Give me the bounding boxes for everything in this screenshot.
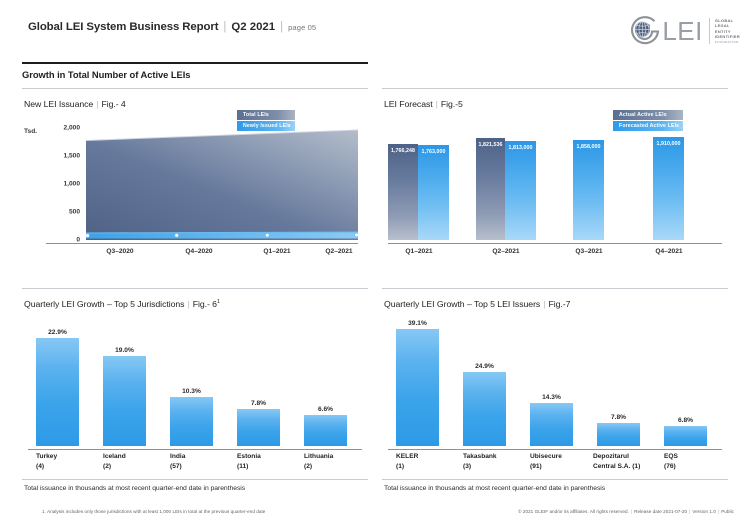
chart-title-fig6-text: Quarterly LEI Growth – Top 5 Jurisdictio…: [24, 299, 184, 309]
x-label-q2-2021: Q2–2021: [492, 248, 519, 255]
column-bar-iceland: [103, 356, 146, 446]
column-bar-turkey: [36, 338, 79, 446]
column-india: 10.3%: [170, 397, 213, 446]
x-axis-labels-fig5: Q1–2021 Q2–2021 Q3–2021 Q4–2021: [388, 248, 722, 262]
chart-fig-superscript-fig6: 1: [217, 299, 220, 305]
x-label-keler: KELER (1): [396, 452, 418, 472]
bar-value-actual-q1-2021: 1,766,248: [388, 148, 418, 154]
x-label-ubisecure: Ubisecure (91): [530, 452, 562, 472]
x-label-turkey-name: Turkey: [36, 453, 57, 460]
panel-top-rule: [22, 88, 368, 89]
x-label-keler-count: (1): [396, 462, 418, 472]
x-label-depozitarul-line-2: Central S.A. (1): [593, 462, 640, 472]
footer-separator-3: |: [718, 509, 719, 514]
report-quarter: Q2 2021: [231, 21, 275, 33]
plot-area-fig7: 39.1% 24.9% 14.3% 7.8% 6.8%: [388, 322, 722, 446]
column-bar-eqs: [664, 426, 707, 446]
chart-note-fig7: Total issuance in thousands at most rece…: [384, 485, 605, 492]
x-label-estonia-count: (11): [237, 462, 261, 472]
column-value-keler: 39.1%: [396, 320, 439, 327]
x-axis-line-fig5: [388, 243, 722, 244]
chart-note-fig6: Total issuance in thousands at most rece…: [24, 485, 245, 492]
x-axis-line-fig4: [46, 243, 358, 244]
x-label-turkey: Turkey (4): [36, 452, 57, 472]
column-turkey: 22.9%: [36, 338, 79, 446]
y-axis-unit-fig4: Tsd.: [24, 128, 37, 135]
release-date: Release date 2021-07-20: [634, 509, 687, 514]
chart-title-fig7-text: Quarterly LEI Growth – Top 5 LEI Issuers: [384, 299, 540, 309]
x-label-q1-2021: Q1–2021: [263, 248, 290, 255]
panel-lei-forecast: LEI Forecast|Fig.-5 Actual Active LEIs F…: [382, 88, 728, 268]
x-label-takasbank: Takasbank (3): [463, 452, 497, 472]
column-bar-india: [170, 397, 213, 446]
chart-fig-label-fig5: Fig.-5: [441, 99, 463, 109]
panel-top-lei-issuers: Quarterly LEI Growth – Top 5 LEI Issuers…: [382, 288, 728, 488]
column-bar-estonia: [237, 409, 280, 446]
x-label-india-count: (57): [170, 462, 185, 472]
x-label-india-name: India: [170, 453, 185, 460]
legend-item-total-leis: Total LEIs: [237, 110, 295, 120]
x-axis-labels-fig7: KELER (1) Takasbank (3) Ubisecure (91) D…: [388, 452, 722, 478]
logo-wordmark: LEI: [662, 18, 703, 44]
column-keler: 39.1%: [396, 329, 439, 446]
gleif-logo: LEI GLOBAL LEGAL ENTITY IDENTIFIER FOUND…: [628, 15, 740, 47]
x-label-turkey-count: (4): [36, 462, 57, 472]
bar-value-forecast-q1-2021: 1,763,000: [418, 149, 449, 155]
page-footnote: 1. Analysis includes only those jurisdic…: [42, 509, 265, 514]
bar-value-actual-q2-2021: 1,821,536: [476, 142, 505, 148]
legend-label-forecasted-active-leis: Forecasted Active LEIs: [619, 123, 679, 129]
x-label-lithuania: Lithuania (2): [304, 452, 333, 472]
x-label-depozitarul-line-1: Depozitarul: [593, 453, 629, 460]
page-title: Global LEI System Business Report: [28, 21, 218, 33]
bar-forecast-q1-2021: 1,763,000: [418, 145, 449, 240]
chart-title-fig5: LEI Forecast|Fig.-5: [384, 99, 463, 109]
x-label-keler-name: KELER: [396, 453, 418, 460]
y-tick-2000: 2,000: [46, 125, 80, 132]
x-label-ubisecure-name: Ubisecure: [530, 453, 562, 460]
x-label-lithuania-count: (2): [304, 462, 333, 472]
column-value-estonia: 7.8%: [237, 400, 280, 407]
x-label-q3-2020: Q3–2020: [106, 248, 133, 255]
panel-top-jurisdictions: Quarterly LEI Growth – Top 5 Jurisdictio…: [22, 288, 368, 488]
chart-title-fig7: Quarterly LEI Growth – Top 5 LEI Issuers…: [384, 299, 570, 309]
footer-separator-2: |: [689, 509, 690, 514]
column-depozitarul: 7.8%: [597, 423, 640, 446]
column-bar-keler: [396, 329, 439, 446]
column-value-eqs: 6.8%: [664, 417, 707, 424]
x-label-takasbank-count: (3): [463, 462, 497, 472]
x-label-estonia-name: Estonia: [237, 453, 261, 460]
chart-fig-label-fig7: Fig.-7: [548, 299, 570, 309]
x-label-iceland-count: (2): [103, 462, 126, 472]
x-label-q2-2021: Q2–2021: [325, 248, 352, 255]
bar-forecast-q2-2021: 1,813,000: [505, 141, 536, 240]
bar-group-q1-2021: 1,766,248 1,763,000: [388, 144, 449, 240]
column-bar-takasbank: [463, 372, 506, 446]
panel-top-rule: [382, 288, 728, 289]
report-page: Global LEI System Business Report | Q2 2…: [0, 0, 750, 531]
document-version: Version 1.0: [692, 509, 716, 514]
x-axis-line-fig7: [388, 449, 722, 450]
x-label-depozitarul: Depozitarul Central S.A. (1): [593, 452, 640, 472]
x-label-iceland-name: Iceland: [103, 453, 126, 460]
legend-label-actual-active-leis: Actual Active LEIs: [619, 112, 667, 118]
x-axis-line-fig6: [28, 449, 362, 450]
logo-divider: [709, 18, 710, 44]
y-axis-ticks-fig4: 2,000 1,500 1,000 500 0: [46, 124, 80, 240]
bar-forecast-q3-2021: 1,858,000: [573, 140, 604, 240]
legend-fig5: Actual Active LEIs Forecasted Active LEI…: [613, 110, 683, 131]
bar-value-forecast-q2-2021: 1,813,000: [505, 145, 536, 151]
section-divider: [22, 62, 368, 64]
y-tick-1500: 1,500: [46, 153, 80, 160]
x-label-eqs-name: EQS: [664, 453, 678, 460]
column-value-lithuania: 6.6%: [304, 406, 347, 413]
x-label-q4-2020: Q4–2020: [185, 248, 212, 255]
column-ubisecure: 14.3%: [530, 403, 573, 446]
column-value-ubisecure: 14.3%: [530, 394, 573, 401]
y-tick-1000: 1,000: [46, 181, 80, 188]
bar-group-q3-2021: 1,858,000: [573, 140, 604, 240]
panel-top-rule: [22, 288, 368, 289]
header-separator-2: |: [280, 21, 283, 33]
chart-title-fig4-text: New LEI Issuance: [24, 99, 93, 109]
x-label-eqs-count: (76): [664, 462, 678, 472]
chart-title-fig5-text: LEI Forecast: [384, 99, 433, 109]
plot-area-fig5: 1,766,248 1,763,000 1,821,536 1,813,000 …: [388, 130, 722, 240]
x-label-iceland: Iceland (2): [103, 452, 126, 472]
legend-item-actual-active-leis: Actual Active LEIs: [613, 110, 683, 120]
logo-tagline-line-5: FOUNDATION: [715, 40, 740, 44]
page-copyright: © 2021 GLEIF and/or its affiliates. All …: [518, 509, 734, 514]
copyright-text: © 2021 GLEIF and/or its affiliates. All …: [518, 509, 629, 514]
panel-top-rule: [382, 88, 728, 89]
x-label-lithuania-name: Lithuania: [304, 453, 333, 460]
x-label-takasbank-name: Takasbank: [463, 453, 497, 460]
x-label-ubisecure-count: (91): [530, 462, 562, 472]
bar-actual-q1-2021: 1,766,248: [388, 144, 418, 240]
panel-new-lei-issuance: New LEI Issuance|Fig.- 4 Total LEIs Newl…: [22, 88, 368, 268]
x-label-india: India (57): [170, 452, 185, 472]
column-value-india: 10.3%: [170, 388, 213, 395]
page-header: Global LEI System Business Report | Q2 2…: [0, 0, 750, 58]
column-bar-depozitarul: [597, 423, 640, 446]
x-label-eqs: EQS (76): [664, 452, 678, 472]
page-number: page 05: [288, 23, 316, 32]
column-takasbank: 24.9%: [463, 372, 506, 446]
column-eqs: 6.8%: [664, 426, 707, 446]
x-label-estonia: Estonia (11): [237, 452, 261, 472]
bar-group-q2-2021: 1,821,536 1,813,000: [476, 138, 536, 240]
bar-value-forecast-q4-2021: 1,910,000: [653, 141, 684, 147]
bar-actual-q2-2021: 1,821,536: [476, 138, 505, 240]
logo-tagline: GLOBAL LEGAL ENTITY IDENTIFIER FOUNDATIO…: [715, 18, 740, 44]
column-bar-ubisecure: [530, 403, 573, 446]
document-classification: Public: [721, 509, 734, 514]
y-tick-500: 500: [46, 209, 80, 216]
section-heading: Growth in Total Number of Active LEIs: [22, 69, 190, 80]
column-estonia: 7.8%: [237, 409, 280, 446]
x-label-q1-2021: Q1–2021: [405, 248, 432, 255]
panel-bottom-rule: [382, 479, 728, 480]
x-label-q3-2021: Q3–2021: [575, 248, 602, 255]
chart-fig-label-fig6: Fig.- 6: [193, 299, 217, 309]
plot-area-fig6: 22.9% 19.0% 10.3% 7.8% 6.6%: [28, 322, 362, 446]
bar-group-q4-2021: 1,910,000: [653, 137, 684, 240]
chart-title-fig6: Quarterly LEI Growth – Top 5 Jurisdictio…: [24, 299, 220, 309]
column-value-turkey: 22.9%: [36, 329, 79, 336]
column-value-depozitarul: 7.8%: [597, 414, 640, 421]
footer-separator-1: |: [631, 509, 632, 514]
plot-area-fig4: [86, 124, 358, 240]
area-series-total-leis: [86, 124, 358, 240]
x-label-q4-2021: Q4–2021: [655, 248, 682, 255]
bar-value-forecast-q3-2021: 1,858,000: [573, 144, 604, 150]
column-lithuania: 6.6%: [304, 415, 347, 446]
chart-title-fig4: New LEI Issuance|Fig.- 4: [24, 99, 126, 109]
x-axis-labels-fig6: Turkey (4) Iceland (2) India (57) Estoni…: [28, 452, 362, 478]
legend-label-total-leis: Total LEIs: [243, 112, 269, 118]
column-value-iceland: 19.0%: [103, 347, 146, 354]
header-separator-1: |: [223, 21, 226, 33]
column-bar-lithuania: [304, 415, 347, 446]
x-axis-labels-fig4: Q3–2020 Q4–2020 Q1–2021 Q2–2021: [86, 248, 358, 262]
column-value-takasbank: 24.9%: [463, 363, 506, 370]
globe-icon: [628, 15, 661, 48]
bar-forecast-q4-2021: 1,910,000: [653, 137, 684, 240]
header-title-group: Global LEI System Business Report | Q2 2…: [28, 21, 316, 33]
column-iceland: 19.0%: [103, 356, 146, 446]
panel-bottom-rule: [22, 479, 368, 480]
chart-fig-label-fig4: Fig.- 4: [101, 99, 125, 109]
